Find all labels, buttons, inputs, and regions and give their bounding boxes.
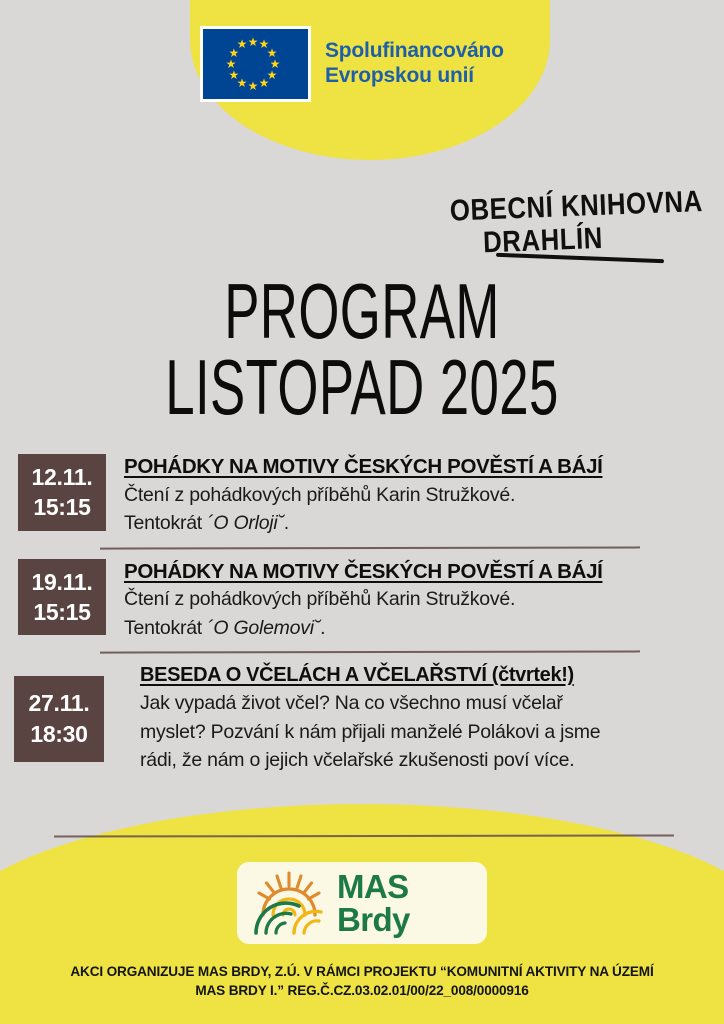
mas-brdy-logo-card: MAS Brdy xyxy=(237,862,487,944)
footer-line-2: MAS BRDY I.” REG.Č.CZ.03.02.01/00/22_008… xyxy=(28,981,696,1000)
event-time: 15:15 xyxy=(33,492,90,522)
event-description-line-2: Tentokrát ´O Golemovi˘. xyxy=(124,615,700,642)
event-body: POHÁDKY NA MOTIVY ČESKÝCH POVĚSTÍ A BÁJÍ… xyxy=(106,559,724,642)
eu-star-icon: ★ xyxy=(259,78,270,89)
eu-star-icon: ★ xyxy=(228,70,239,81)
eu-flag-icon: ★★★★★★★★★★★★ xyxy=(200,26,311,102)
program-title-line-2: LISTOPAD 2025 xyxy=(72,348,651,428)
mas-brdy-wordmark: MAS Brdy xyxy=(337,870,487,936)
event-date-badge: 19.11. 15:15 xyxy=(18,559,106,636)
event-item: 12.11. 15:15 POHÁDKY NA MOTIVY ČESKÝCH P… xyxy=(0,454,724,537)
event-desc-prefix: Tentokrát xyxy=(124,617,207,639)
event-item: 27.11. 18:30 BESEDA O VČELÁCH A VČELAŘST… xyxy=(0,663,724,774)
event-story-title: ´O Orloji˘ xyxy=(207,512,284,534)
event-divider xyxy=(100,651,640,654)
event-description-line-1: Čtení z pohádkových příběhů Karin Stružk… xyxy=(124,482,700,509)
library-name-line-1: OBECNÍ KNIHOVNA xyxy=(449,186,703,227)
poster-canvas: ★★★★★★★★★★★★ Spolufinancováno Evropskou … xyxy=(0,0,724,1024)
event-description-line-1: Jak vypadá život včel? Na co všechno mus… xyxy=(140,690,710,717)
program-title-line-1: PROGRAM xyxy=(72,272,651,352)
eu-cofunding-text: Spolufinancováno Evropskou unií xyxy=(325,39,504,89)
event-description-line-1: Čtení z pohádkových příběhů Karin Stružk… xyxy=(124,586,700,613)
event-description-line-2: Tentokrát ´O Orloji˘. xyxy=(124,510,700,537)
event-date: 19.11. xyxy=(32,567,93,597)
eu-cofunding-block: ★★★★★★★★★★★★ Spolufinancováno Evropskou … xyxy=(200,26,504,102)
event-description-line-3: rádi, že nám o jejich včelařské zkušenos… xyxy=(140,747,710,774)
event-title: POHÁDKY NA MOTIVY ČESKÝCH POVĚSTÍ A BÁJÍ xyxy=(124,559,700,585)
event-desc-suffix: . xyxy=(284,512,289,534)
event-item: 19.11. 15:15 POHÁDKY NA MOTIVY ČESKÝCH P… xyxy=(0,559,724,642)
event-body: BESEDA O VČELÁCH A VČELAŘSTVÍ (čtvrtek!)… xyxy=(104,663,724,774)
event-time: 18:30 xyxy=(30,719,87,749)
eu-star-icon: ★ xyxy=(226,59,237,70)
event-time: 15:15 xyxy=(33,597,90,627)
event-story-title: ´O Golemovi˘ xyxy=(207,617,320,639)
event-description-line-2: myslet? Pozvání k nám přijali manželé Po… xyxy=(140,719,710,746)
event-date-badge: 12.11. 15:15 xyxy=(18,454,106,531)
event-body: POHÁDKY NA MOTIVY ČESKÝCH POVĚSTÍ A BÁJÍ… xyxy=(106,454,724,537)
footer-line-1: AKCI ORGANIZUJE MAS BRDY, Z.Ú. V RÁMCI P… xyxy=(28,962,696,981)
eu-star-icon: ★ xyxy=(237,39,248,50)
eu-text-line-2: Evropskou unií xyxy=(325,64,504,89)
event-title: POHÁDKY NA MOTIVY ČESKÝCH POVĚSTÍ A BÁJÍ xyxy=(124,454,700,480)
eu-text-line-1: Spolufinancováno xyxy=(325,39,504,64)
event-desc-prefix: Tentokrát xyxy=(124,512,207,534)
event-list: 12.11. 15:15 POHÁDKY NA MOTIVY ČESKÝCH P… xyxy=(0,444,724,774)
event-date-badge: 27.11. 18:30 xyxy=(14,676,104,762)
event-divider xyxy=(100,546,640,549)
footer-funding-note: AKCI ORGANIZUJE MAS BRDY, Z.Ú. V RÁMCI P… xyxy=(0,962,724,1001)
page-title: PROGRAM LISTOPAD 2025 xyxy=(0,272,724,416)
event-desc-suffix: . xyxy=(320,617,325,639)
library-name: OBECNÍ KNIHOVNA DRAHLÍN xyxy=(408,186,704,263)
event-date: 27.11. xyxy=(29,688,90,718)
event-title: BESEDA O VČELÁCH A VČELAŘSTVÍ (čtvrtek!) xyxy=(140,663,710,688)
event-date: 12.11. xyxy=(32,462,93,492)
mas-brdy-sun-icon xyxy=(251,871,327,935)
eu-star-icon: ★ xyxy=(248,81,259,92)
eu-star-icon: ★ xyxy=(248,37,259,48)
